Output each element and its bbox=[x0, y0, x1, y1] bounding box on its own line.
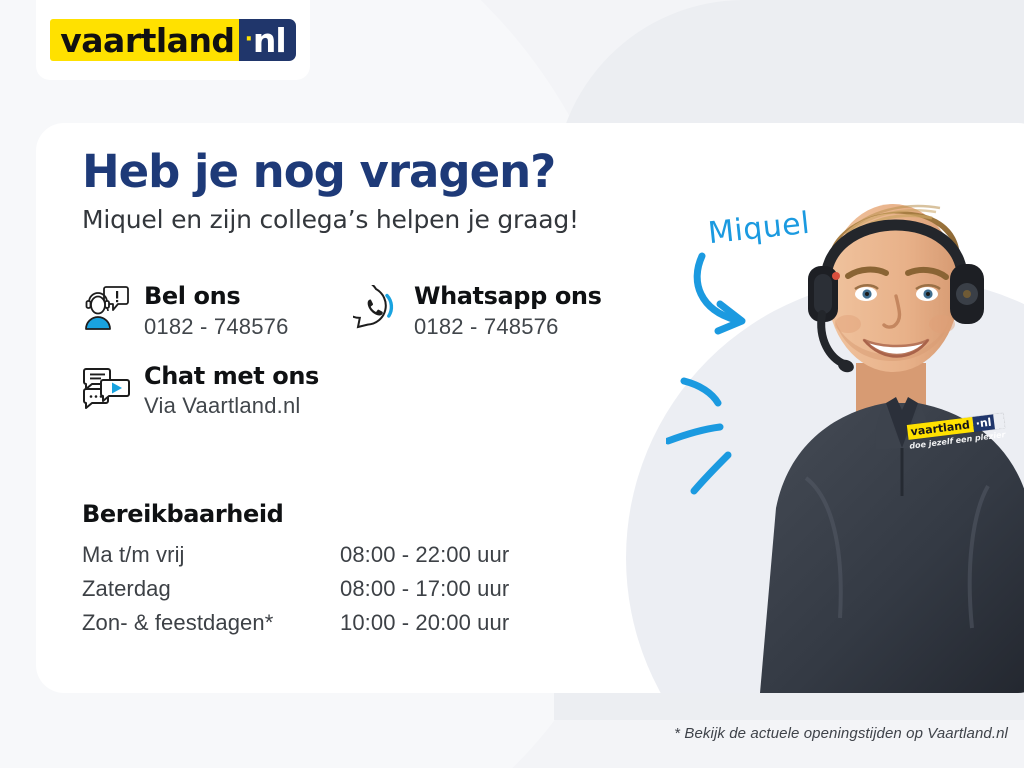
contact-chat[interactable]: Chat met ons Via Vaartland.nl bbox=[80, 362, 319, 420]
logo-wordmark: vaartland bbox=[50, 19, 242, 61]
contact-call-text: Bel ons 0182 - 748576 bbox=[144, 282, 289, 340]
logo-tld-text: nl bbox=[253, 24, 286, 57]
contact-whatsapp-title: Whatsapp ons bbox=[414, 283, 601, 311]
vaartland-logo[interactable]: vaartland ·nl bbox=[50, 19, 295, 61]
page-subtitle: Miquel en zijn collega’s helpen je graag… bbox=[82, 205, 642, 234]
logo-tld-badge: ·nl bbox=[239, 19, 296, 61]
hours-day: Zaterdag bbox=[82, 572, 340, 606]
contact-whatsapp-number[interactable]: 0182 - 748576 bbox=[414, 314, 601, 340]
hours-time: 08:00 - 22:00 uur bbox=[340, 538, 572, 572]
page-title: Heb je nog vragen? bbox=[82, 148, 642, 197]
brand-logo-card[interactable]: vaartland ·nl bbox=[36, 0, 310, 80]
hours-day: Ma t/m vrij bbox=[82, 538, 340, 572]
logo-dot: · bbox=[245, 29, 252, 51]
contact-call[interactable]: Bel ons 0182 - 748576 bbox=[80, 282, 355, 340]
table-row: Ma t/m vrij 08:00 - 22:00 uur bbox=[82, 538, 572, 572]
contact-whatsapp-text: Whatsapp ons 0182 - 748576 bbox=[414, 282, 601, 340]
contact-call-number[interactable]: 0182 - 748576 bbox=[144, 314, 289, 340]
contact-row-primary: Bel ons 0182 - 748576 Whatsapp ons bbox=[80, 282, 640, 340]
shirt-logo-tld: ·nl bbox=[972, 414, 995, 432]
contact-row-secondary: Chat met ons Via Vaartland.nl bbox=[80, 362, 640, 420]
agent-photo-area: Miquel bbox=[656, 123, 1024, 693]
table-row: Zaterdag 08:00 - 17:00 uur bbox=[82, 572, 572, 606]
footnote-text: * Bekijk de actuele openingstijden op Va… bbox=[674, 725, 1008, 742]
opening-hours-table: Ma t/m vrij 08:00 - 22:00 uur Zaterdag 0… bbox=[82, 538, 572, 640]
opening-hours: Bereikbaarheid Ma t/m vrij 08:00 - 22:00… bbox=[82, 500, 572, 640]
shirt-logo-tld-text: nl bbox=[979, 417, 992, 429]
opening-hours-title: Bereikbaarheid bbox=[82, 500, 572, 528]
contact-chat-title: Chat met ons bbox=[144, 363, 319, 391]
hours-time: 10:00 - 20:00 uur bbox=[340, 606, 572, 640]
hero-text: Heb je nog vragen? Miquel en zijn colleg… bbox=[82, 148, 642, 234]
agent-headset-icon bbox=[80, 282, 132, 334]
contact-call-title: Bel ons bbox=[144, 283, 289, 311]
main-card: Heb je nog vragen? Miquel en zijn colleg… bbox=[36, 123, 1024, 693]
contact-chat-link[interactable]: Via Vaartland.nl bbox=[144, 393, 319, 419]
hours-day: Zon- & feestdagen* bbox=[82, 606, 340, 640]
table-row: Zon- & feestdagen* 10:00 - 20:00 uur bbox=[82, 606, 572, 640]
contact-chat-text: Chat met ons Via Vaartland.nl bbox=[144, 362, 319, 420]
contact-banner: vaartland ·nl Heb je nog vragen? Miquel … bbox=[0, 0, 1024, 768]
contact-whatsapp[interactable]: Whatsapp ons 0182 - 748576 bbox=[350, 282, 625, 340]
hours-time: 08:00 - 17:00 uur bbox=[340, 572, 572, 606]
chat-bubbles-icon bbox=[80, 362, 132, 414]
contact-methods: Bel ons 0182 - 748576 Whatsapp ons bbox=[80, 282, 640, 441]
whatsapp-icon bbox=[350, 282, 402, 334]
